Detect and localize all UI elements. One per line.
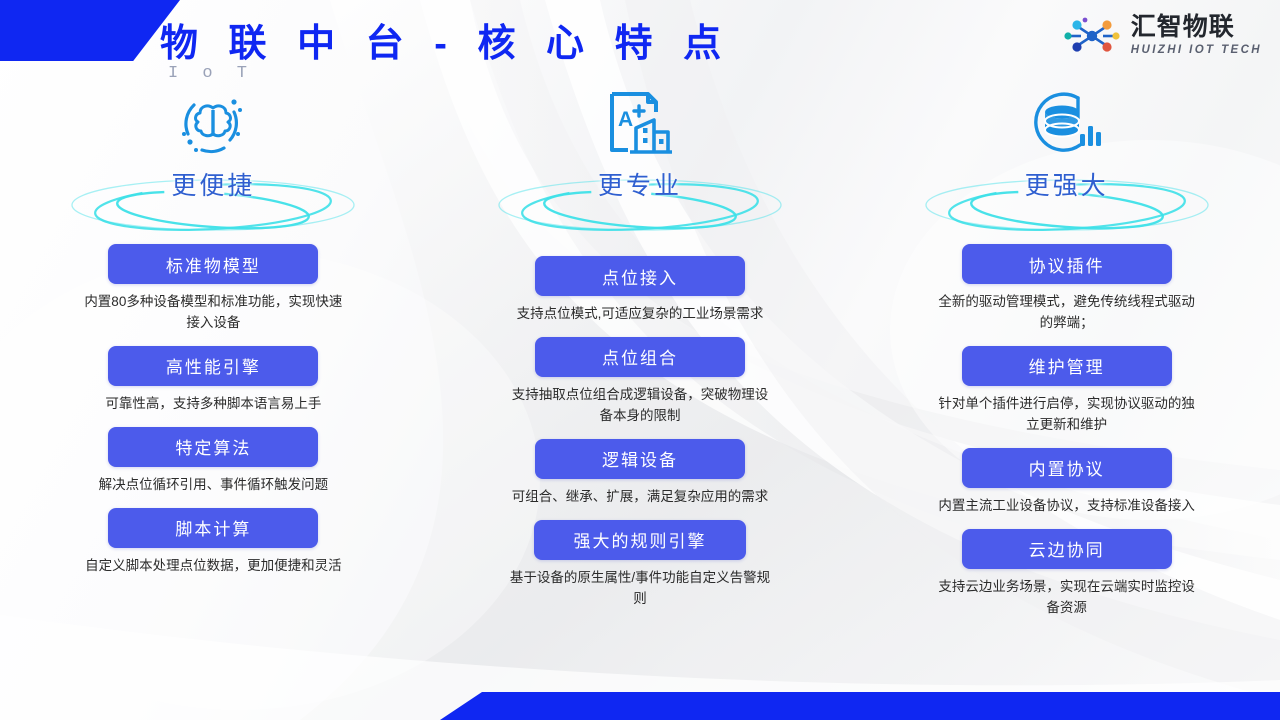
feature-description: 自定义脚本处理点位数据，更加便捷和灵活 xyxy=(81,556,346,577)
feature-chip[interactable]: 云边协同 xyxy=(962,529,1172,569)
feature-item: 内置协议 内置主流工业设备协议，支持标准设备接入 xyxy=(853,448,1280,517)
column-title: 更强大 xyxy=(1025,166,1109,202)
logo-name-en: HUIZHI IOT TECH xyxy=(1131,45,1262,57)
feature-item: 点位接入 支持点位模式,可适应复杂的工业场景需求 xyxy=(427,256,854,325)
column-title-block-convenient: 更便捷 xyxy=(0,160,427,238)
feature-description: 可组合、继承、扩展，满足复杂应用的需求 xyxy=(508,487,773,508)
feature-item: 脚本计算 自定义脚本处理点位数据，更加便捷和灵活 xyxy=(0,508,427,577)
feature-description: 内置80多种设备模型和标准功能，实现快速接入设备 xyxy=(81,292,346,334)
feature-list-powerful: 协议插件 全新的驱动管理模式，避免传统线程式驱动的弊端； 维护管理 针对单个插件… xyxy=(853,244,1280,630)
column-title: 更专业 xyxy=(598,166,682,202)
feature-chip[interactable]: 特定算法 xyxy=(108,427,318,467)
brand-logo: 汇智物联 HUIZHI IOT TECH xyxy=(1061,14,1262,58)
feature-description: 内置主流工业设备协议，支持标准设备接入 xyxy=(934,496,1199,517)
feature-item: 云边协同 支持云边业务场景，实现在云端实时监控设备资源 xyxy=(853,529,1280,619)
feature-description: 基于设备的原生属性/事件功能自定义告警规则 xyxy=(508,568,773,610)
feature-description: 全新的驱动管理模式，避免传统线程式驱动的弊端； xyxy=(934,292,1199,334)
feature-description: 解决点位循环引用、事件循环触发问题 xyxy=(81,475,346,496)
feature-item: 强大的规则引擎 基于设备的原生属性/事件功能自定义告警规则 xyxy=(427,520,854,610)
feature-item: 点位组合 支持抽取点位组合成逻辑设备，突破物理设备本身的限制 xyxy=(427,337,854,427)
feature-list-professional: 点位接入 支持点位模式,可适应复杂的工业场景需求 点位组合 支持抽取点位组合成逻… xyxy=(427,256,854,622)
slide-root: 物 联 中 台 - 核 心 特 点 I o T 汇智物联 HUIZHI IOT … xyxy=(0,0,1280,720)
feature-description: 支持云边业务场景，实现在云端实时监控设备资源 xyxy=(934,577,1199,619)
page-title: 物 联 中 台 - 核 心 特 点 xyxy=(160,12,731,67)
column-title: 更便捷 xyxy=(171,166,255,202)
feature-chip[interactable]: 逻辑设备 xyxy=(535,439,745,479)
feature-description: 支持点位模式,可适应复杂的工业场景需求 xyxy=(508,304,773,325)
document-a-plus-building-icon: A xyxy=(602,88,678,160)
feature-item: 特定算法 解决点位循环引用、事件循环触发问题 xyxy=(0,427,427,496)
feature-item: 逻辑设备 可组合、继承、扩展，满足复杂应用的需求 xyxy=(427,439,854,508)
feature-item: 高性能引擎 可靠性高，支持多种脚本语言易上手 xyxy=(0,346,427,415)
feature-chip[interactable]: 强大的规则引擎 xyxy=(534,520,746,560)
feature-column-professional: A xyxy=(427,88,854,708)
feature-item: 维护管理 针对单个插件进行启停，实现协议驱动的独立更新和维护 xyxy=(853,346,1280,436)
feature-description: 针对单个插件进行启停，实现协议驱动的独立更新和维护 xyxy=(934,394,1199,436)
page-subtitle: I o T xyxy=(168,64,254,83)
feature-column-powerful: 更强大 协议插件 全新的驱动管理模式，避免传统线程式驱动的弊端； 维护管理 针对… xyxy=(853,88,1280,708)
column-title-block-powerful: 更强大 xyxy=(853,160,1280,238)
molecule-network-icon xyxy=(1061,14,1123,58)
header-accent-shape xyxy=(0,0,180,61)
feature-chip[interactable]: 点位接入 xyxy=(535,256,745,296)
feature-description: 支持抽取点位组合成逻辑设备，突破物理设备本身的限制 xyxy=(508,385,773,427)
brain-gear-icon xyxy=(172,88,254,160)
footer-accent-shape xyxy=(440,692,1280,720)
feature-column-convenient: 更便捷 标准物模型 内置80多种设备模型和标准功能，实现快速接入设备 高性能引擎… xyxy=(0,88,427,708)
feature-item: 标准物模型 内置80多种设备模型和标准功能，实现快速接入设备 xyxy=(0,244,427,334)
feature-chip[interactable]: 维护管理 xyxy=(962,346,1172,386)
feature-chip[interactable]: 脚本计算 xyxy=(108,508,318,548)
column-title-block-professional: 更专业 xyxy=(427,160,854,238)
feature-chip[interactable]: 协议插件 xyxy=(962,244,1172,284)
feature-chip[interactable]: 点位组合 xyxy=(535,337,745,377)
logo-name-cn: 汇智物联 xyxy=(1131,15,1262,40)
feature-columns: 更便捷 标准物模型 内置80多种设备模型和标准功能，实现快速接入设备 高性能引擎… xyxy=(0,88,1280,708)
feature-item: 协议插件 全新的驱动管理模式，避免传统线程式驱动的弊端； xyxy=(853,244,1280,334)
feature-chip[interactable]: 内置协议 xyxy=(962,448,1172,488)
feature-chip[interactable]: 标准物模型 xyxy=(108,244,318,284)
feature-list-convenient: 标准物模型 内置80多种设备模型和标准功能，实现快速接入设备 高性能引擎 可靠性… xyxy=(0,244,427,589)
database-barchart-icon xyxy=(1028,88,1106,160)
feature-description: 可靠性高，支持多种脚本语言易上手 xyxy=(81,394,346,415)
svg-text:A: A xyxy=(618,108,633,131)
feature-chip[interactable]: 高性能引擎 xyxy=(108,346,318,386)
